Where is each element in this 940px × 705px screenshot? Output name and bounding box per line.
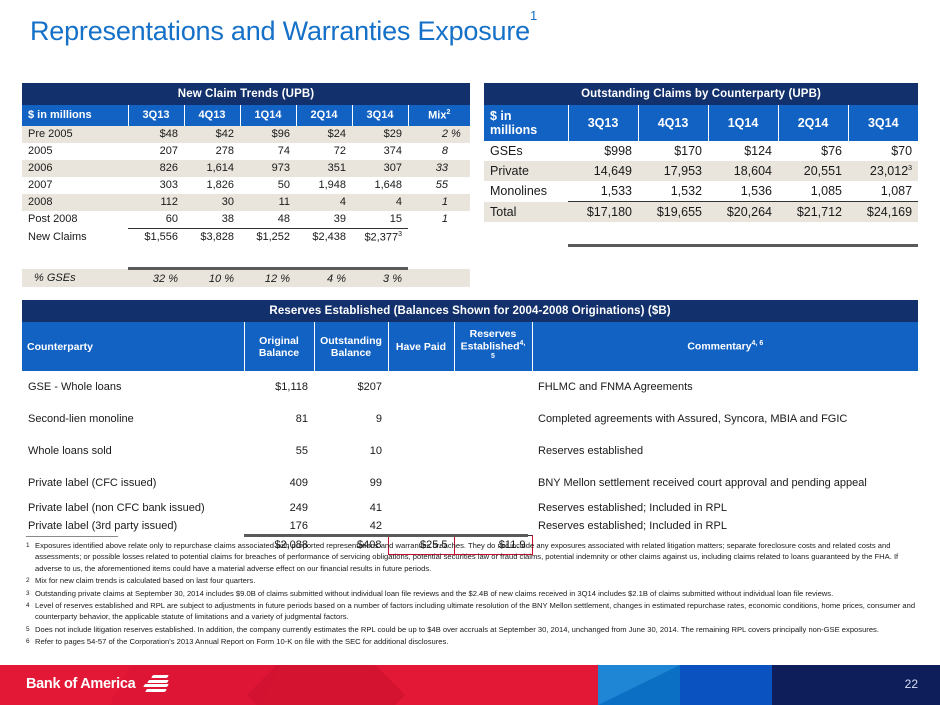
outstanding-col-4q13: 4Q13: [638, 105, 708, 141]
outstanding-underline-row: [484, 222, 918, 246]
page-number: 22: [905, 677, 918, 691]
reserves-col-original-balance: Original Balance: [244, 322, 314, 371]
mix-cell: 8: [408, 143, 470, 160]
footnote-1: 1Exposures identified above relate only …: [26, 540, 916, 574]
table-row: Second-lien monoline 81 9 Completed agre…: [22, 403, 918, 435]
outstanding-col-3q13: 3Q13: [568, 105, 638, 141]
claims-table-title: New Claim Trends (UPB): [22, 83, 470, 105]
logo-text: Bank of America: [26, 676, 135, 692]
slide-footer: 22 Bank of America: [0, 665, 940, 705]
table-row: Whole loans sold 55 10 Reserves establis…: [22, 435, 918, 467]
footnote-4: 4Level of reserves established and RPL a…: [26, 600, 916, 623]
mix-cell: 33: [408, 160, 470, 177]
footer-red-shape-2: [247, 665, 405, 705]
outstanding-private-3q14: 23,0123: [848, 161, 918, 181]
table-row: 2007 303 1,826 50 1,948 1,648 55: [22, 177, 470, 194]
claims-total-last: $2,3773: [352, 228, 408, 246]
claims-col-3q13: 3Q13: [128, 105, 184, 126]
table-row: Pre 2005 $48 $42 $96 $24 $29 2 %: [22, 126, 470, 143]
reserves-col-commentary: Commentary4, 6: [532, 322, 918, 371]
outstanding-col-3q14: 3Q14: [848, 105, 918, 141]
table-row: GSEs $998 $170 $124 $76 $70: [484, 141, 918, 161]
table-row: 2006 826 1,614 973 351 307 33: [22, 160, 470, 177]
table-row: 2008 112 30 11 4 4 1: [22, 194, 470, 211]
table-row: 2005 207 278 74 72 374 8: [22, 143, 470, 160]
footnote-divider: [26, 536, 118, 537]
mix-cell: 1: [408, 211, 470, 229]
footer-navy-band: 22: [772, 665, 940, 705]
table-row: GSE - Whole loans $1,118 $207 FHLMC and …: [22, 371, 918, 403]
outstanding-table-header-row: $ in millions 3Q13 4Q13 1Q14 2Q14 3Q14: [484, 105, 918, 141]
claims-table-header-row: $ in millions 3Q13 4Q13 1Q14 2Q14 3Q14 M…: [22, 105, 470, 126]
table-row: Post 2008 60 38 48 39 15 1: [22, 211, 470, 229]
footnote-5: 5Does not include litigation reserves es…: [26, 624, 916, 635]
outstanding-col-2q14: 2Q14: [778, 105, 848, 141]
footnotes: 1Exposures identified above relate only …: [26, 540, 916, 649]
claims-underline-row: [22, 246, 470, 269]
claims-gse-row: % GSEs 32 % 10 % 12 % 4 % 3 %: [22, 269, 470, 288]
reserves-col-counterparty: Counterparty: [22, 322, 244, 371]
mix-cell: 55: [408, 177, 470, 194]
reserves-col-reserves-established: Reserves Established4, 5: [454, 322, 532, 371]
table-row: Private label (3rd party issued) 176 42 …: [22, 517, 918, 536]
footer-blue-triangle: [598, 665, 680, 705]
bank-of-america-logo: Bank of America: [26, 675, 168, 693]
reserves-table-title: Reserves Established (Balances Shown for…: [22, 300, 918, 322]
footnote-3: 3Outstanding private claims at September…: [26, 588, 916, 599]
claims-col-2q14: 2Q14: [296, 105, 352, 126]
footnote-2: 2Mix for new claim trends is calculated …: [26, 575, 916, 586]
outstanding-claims-table: Outstanding Claims by Counterparty (UPB)…: [484, 83, 918, 247]
table-row: Private label (non CFC bank issued) 249 …: [22, 499, 918, 517]
reserves-established-table: Reserves Established (Balances Shown for…: [22, 300, 918, 555]
claims-col-unit: $ in millions: [22, 105, 128, 126]
table-row: Monolines 1,533 1,532 1,536 1,085 1,087: [484, 181, 918, 202]
page-title: Representations and Warranties Exposure1: [30, 16, 537, 47]
flag-icon: [142, 675, 168, 693]
claims-col-1q14: 1Q14: [240, 105, 296, 126]
page-title-superscript: 1: [530, 8, 537, 23]
mix-cell: 1: [408, 194, 470, 211]
outstanding-col-unit: $ in millions: [484, 105, 568, 141]
reserves-col-outstanding-balance: Outstanding Balance: [314, 322, 388, 371]
table-row: Private 14,649 17,953 18,604 20,551 23,0…: [484, 161, 918, 181]
reserves-total-underline: [244, 534, 528, 537]
claims-col-mix: Mix2: [408, 105, 470, 126]
footer-blue-band-1: [598, 665, 680, 705]
claims-total-row: New Claims $1,556 $3,828 $1,252 $2,438 $…: [22, 228, 470, 246]
reserves-col-have-paid: Have Paid: [388, 322, 454, 371]
outstanding-total-row: Total $17,180 $19,655 $20,264 $21,712 $2…: [484, 202, 918, 223]
claims-col-3q14: 3Q14: [352, 105, 408, 126]
page-title-text: Representations and Warranties Exposure: [30, 16, 530, 46]
footer-blue-band-2: [680, 665, 772, 705]
mix-cell: 2 %: [408, 126, 470, 143]
outstanding-col-1q14: 1Q14: [708, 105, 778, 141]
claims-col-4q13: 4Q13: [184, 105, 240, 126]
footnote-6: 6Refer to pages 54-57 of the Corporation…: [26, 636, 916, 647]
outstanding-table-title: Outstanding Claims by Counterparty (UPB): [484, 83, 918, 105]
reserves-table-header-row: Counterparty Original Balance Outstandin…: [22, 322, 918, 371]
table-row: Private label (CFC issued) 409 99 BNY Me…: [22, 467, 918, 499]
